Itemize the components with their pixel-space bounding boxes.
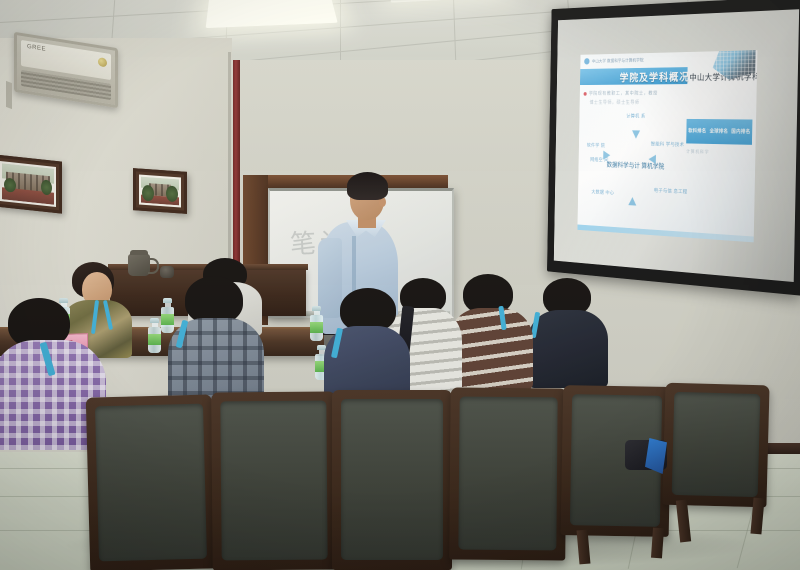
diagram-arrow-right [603, 151, 610, 160]
slide-logo-text: 中山大学 数据科学与计算机学院 [592, 57, 644, 64]
chair-2-pad [220, 401, 327, 561]
ranking-table-header-2: 国内排名 [730, 128, 752, 135]
slide-bullet-text: 学院现有教职工，其中院士，教授 [589, 90, 658, 97]
diagram-arrow-left [649, 154, 657, 163]
diagram-node-1: 软件学 院 [587, 142, 605, 149]
photo-image [2, 163, 54, 204]
ranking-table-row: 计算机科学 [686, 149, 709, 155]
teapot-lid [130, 250, 148, 255]
presentation-slide: 中山大学 数据科学与计算机学院 学院及学科概况 中山大学计算机学科排名情况 学院… [577, 50, 757, 242]
university-logo-icon [584, 58, 589, 64]
diagram-node-0: 计算机 系 [626, 113, 645, 120]
seminar-room-photo: GREE 笔记 [0, 0, 800, 570]
diagram-arrow-down [632, 130, 640, 138]
framed-campus-photo-left [0, 154, 62, 213]
diagram-node-4: 电子与信 息工程 [654, 187, 688, 195]
slide-bullet: 学院现有教职工，其中院士，教授 [584, 90, 658, 97]
photo-image-2 [141, 177, 179, 206]
chair-4-pad [458, 397, 557, 551]
teapot [128, 254, 150, 276]
water-bottle-3 [161, 298, 174, 333]
attendee-plaid-grey-hair [185, 276, 243, 324]
presenter-hair [347, 172, 388, 200]
diagram-node-5: 大数据 中心 [591, 189, 614, 196]
slide-sub-text: 博士生导师，硕士生导师 [590, 99, 640, 105]
slide-title: 学院及学科概况 [620, 69, 690, 85]
slide-logo: 中山大学 数据科学与计算机学院 [584, 57, 643, 65]
chair-6-pad [672, 392, 761, 497]
air-conditioner-pipe [6, 81, 12, 109]
projection-screen: 中山大学 数据科学与计算机学院 学院及学科概况 中山大学计算机学科排名情况 学院… [547, 0, 800, 296]
chair-3-pad [341, 399, 443, 560]
diagram-arrow-up [629, 197, 637, 206]
water-bottle-2 [148, 318, 161, 353]
ranking-table-header-0: 软科排名 [687, 128, 708, 135]
ranking-table-header: 软科排名 全球排名 国内排名 [686, 119, 752, 145]
diagram-node-3: 智能科 学与技术 [651, 141, 684, 148]
slide-footer-bar [577, 225, 753, 243]
framed-campus-photo-right [133, 168, 187, 214]
water-bottle-4 [310, 306, 323, 341]
door-frame-header [243, 175, 448, 188]
chair-1-pad [95, 404, 207, 562]
slide-org-diagram: 计算机 系 软件学 院 网络空 间 智能科 学与技术 电子与信 息工程 大数据 … [587, 115, 685, 227]
air-conditioner-brand-label: GREE [27, 44, 46, 53]
tea-cup [160, 266, 174, 278]
ranking-table-header-1: 全球排名 [708, 128, 730, 135]
projection-screen-surface: 中山大学 数据科学与计算机学院 学院及学科概况 中山大学计算机学科排名情况 学院… [554, 9, 799, 282]
attendee-dark-navy-torso [528, 310, 608, 388]
bullet-dot-icon [584, 92, 587, 96]
